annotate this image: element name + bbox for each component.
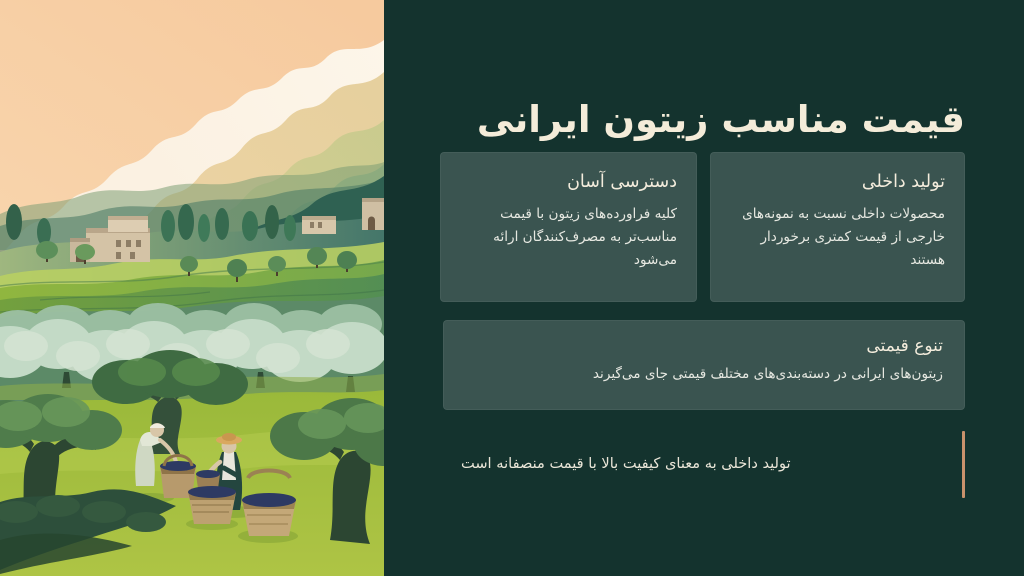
- feature-card-easy-access-body: کلیه فراورده‌های زیتون با قیمت مناسب‌تر …: [460, 203, 677, 272]
- footer-callout-text: تولید داخلی به معنای کیفیت بالا با قیمت …: [443, 452, 791, 476]
- slide-title: قیمت مناسب زیتون ایرانی: [445, 97, 965, 143]
- footer-callout: تولید داخلی به معنای کیفیت بالا با قیمت …: [443, 430, 951, 498]
- feature-card-easy-access-title: دسترسی آسان: [460, 170, 677, 194]
- content-panel: قیمت مناسب زیتون ایرانی دسترسی آسان کلیه…: [384, 0, 1024, 576]
- basket-ground-center: [186, 486, 238, 530]
- feature-card-domestic-production-title: تولید داخلی: [730, 170, 945, 194]
- slide-root: قیمت مناسب زیتون ایرانی دسترسی آسان کلیه…: [0, 0, 1024, 576]
- farmhouse-right: [302, 216, 336, 234]
- feature-card-domestic-production-body: محصولات داخلی نسبت به نمونه‌های خارجی از…: [730, 203, 945, 272]
- accent-rule: [962, 431, 965, 498]
- feature-card-easy-access: دسترسی آسان کلیه فراورده‌های زیتون با قی…: [440, 152, 697, 302]
- feature-card-price-variety-title: تنوع قیمتی: [465, 334, 943, 358]
- feature-card-price-variety: تنوع قیمتی زیتون‌های ایرانی در دسته‌بندی…: [443, 320, 965, 410]
- feature-card-price-variety-body: زیتون‌های ایرانی در دسته‌بندی‌های مختلف …: [465, 364, 943, 384]
- farmhouse-far-right: [362, 198, 384, 230]
- feature-card-domestic-production: تولید داخلی محصولات داخلی نسبت به نمونه‌…: [710, 152, 965, 302]
- olive-grove-harvest-illustration: [0, 0, 384, 576]
